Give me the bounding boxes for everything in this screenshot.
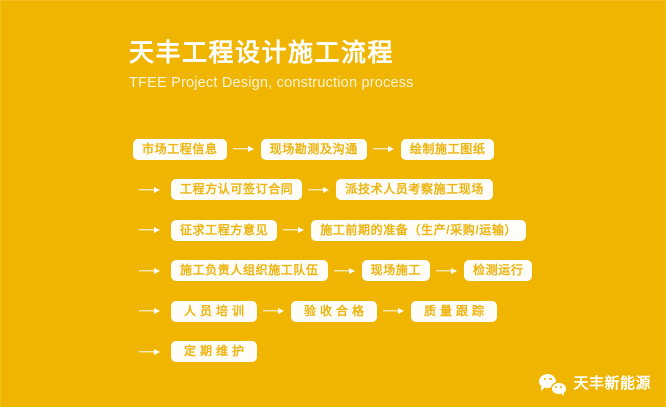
flow-arrow-icon bbox=[430, 260, 464, 281]
flow-lead-arrow-icon bbox=[133, 260, 169, 281]
page-title: 天丰工程设计施工流程 bbox=[129, 37, 589, 69]
wechat-account-name: 天丰新能源 bbox=[573, 374, 651, 394]
flow-step-pill[interactable]: 现场勘测及沟通 bbox=[261, 139, 367, 160]
slide-header: 天丰工程设计施工流程 TFEE Project Design, construc… bbox=[129, 37, 589, 93]
flow-row: 施工负责人组织施工队伍现场施工检测运行 bbox=[133, 259, 633, 283]
slide-canvas: 天丰工程设计施工流程 TFEE Project Design, construc… bbox=[0, 0, 666, 407]
flow-arrow-icon bbox=[227, 139, 261, 160]
flow-step-pill[interactable]: 定期维护 bbox=[171, 341, 257, 362]
flow-step-pill[interactable]: 验收合格 bbox=[291, 301, 377, 322]
flow-arrow-icon bbox=[277, 220, 311, 241]
flow-arrow-icon bbox=[377, 301, 411, 322]
flow-step-pill[interactable]: 人员培训 bbox=[171, 301, 257, 322]
flow-step-pill[interactable]: 检测运行 bbox=[464, 260, 532, 281]
flow-lead-arrow-icon bbox=[133, 301, 169, 322]
page-subtitle: TFEE Project Design, construction proces… bbox=[129, 73, 589, 93]
flow-row: 人员培训验收合格质量跟踪 bbox=[133, 299, 633, 323]
flow-step-pill[interactable]: 征求工程方意见 bbox=[171, 220, 277, 241]
flow-lead-arrow-icon bbox=[133, 179, 169, 200]
flow-row: 工程方认可签订合同派技术人员考察施工现场 bbox=[133, 178, 633, 202]
flow-step-pill[interactable]: 派技术人员考察施工现场 bbox=[336, 179, 493, 200]
flow-lead-arrow-icon bbox=[133, 220, 169, 241]
flow-arrow-icon bbox=[367, 139, 401, 160]
wechat-icon bbox=[539, 374, 566, 394]
flow-row: 征求工程方意见施工前期的准备（生产/采购/运输） bbox=[133, 218, 633, 242]
flow-arrow-icon bbox=[302, 179, 336, 200]
flow-arrow-icon bbox=[257, 301, 291, 322]
flow-step-pill[interactable]: 工程方认可签订合同 bbox=[171, 179, 302, 200]
flow-step-pill[interactable]: 现场施工 bbox=[362, 260, 430, 281]
flow-step-pill[interactable]: 市场工程信息 bbox=[133, 139, 227, 160]
wechat-account-badge: 天丰新能源 bbox=[539, 374, 651, 394]
flow-step-pill[interactable]: 绘制施工图纸 bbox=[401, 139, 495, 160]
flow-step-pill[interactable]: 质量跟踪 bbox=[411, 301, 497, 322]
flow-step-pill[interactable]: 施工负责人组织施工队伍 bbox=[171, 260, 328, 281]
flow-row: 定期维护 bbox=[133, 340, 633, 364]
flow-lead-arrow-icon bbox=[133, 341, 169, 362]
flow-arrow-icon bbox=[328, 260, 362, 281]
flow-step-pill[interactable]: 施工前期的准备（生产/采购/运输） bbox=[311, 220, 526, 241]
process-flow-diagram: 市场工程信息现场勘测及沟通绘制施工图纸工程方认可签订合同派技术人员考察施工现场征… bbox=[133, 137, 633, 380]
flow-row: 市场工程信息现场勘测及沟通绘制施工图纸 bbox=[133, 137, 633, 161]
